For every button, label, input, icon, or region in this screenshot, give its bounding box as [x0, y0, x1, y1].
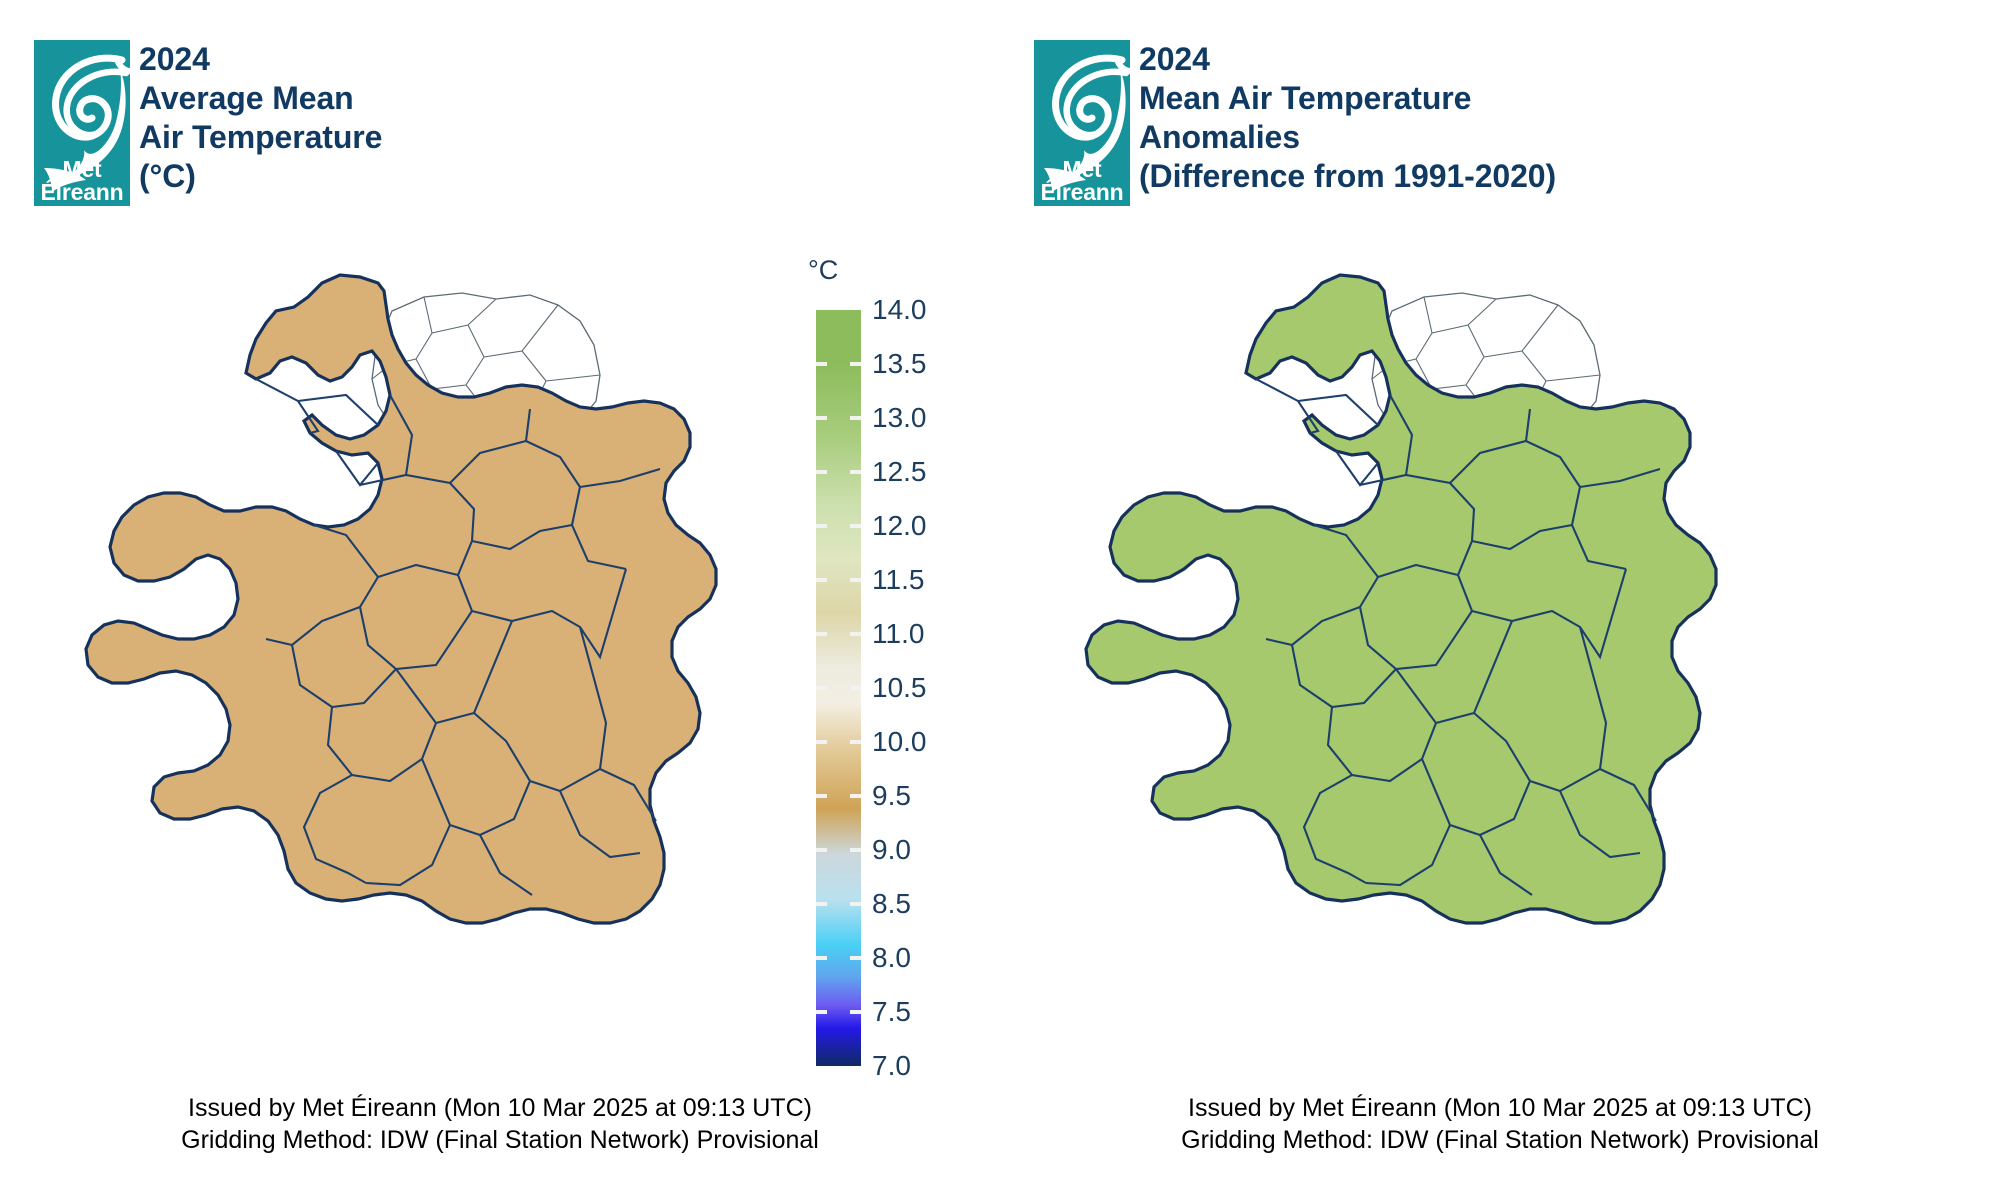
issued-by-text: Issued by Met Éireann (Mon 10 Mar 2025 a…: [0, 1092, 1000, 1124]
panel-mean-air-temperature-anomalies: Met Éireann 2024 Mean Air Temperature An…: [1000, 0, 2000, 1200]
header-right: Met Éireann 2024 Mean Air Temperature An…: [1034, 40, 1556, 206]
footer-left: Issued by Met Éireann (Mon 10 Mar 2025 a…: [0, 1092, 1000, 1156]
logo-word-eireann: Éireann: [1041, 179, 1124, 205]
logo-wordmark: Met Éireann: [34, 158, 130, 204]
gridding-method-text: Gridding Method: IDW (Final Station Netw…: [0, 1124, 1000, 1156]
title-line-3: Anomalies: [1139, 118, 1556, 157]
colorbar-tick-label: 10.5: [872, 674, 927, 702]
upland-cold-core: [184, 849, 236, 881]
footer-right: Issued by Met Éireann (Mon 10 Mar 2025 a…: [1000, 1092, 2000, 1156]
republic-of-ireland-landmass: [86, 260, 716, 923]
colorbar-tick-labels: 14.013.513.012.512.011.511.010.510.09.59…: [872, 310, 1012, 1066]
upland-cold-core: [233, 822, 259, 840]
colorbar-tick-label: 7.5: [872, 998, 911, 1026]
colorbar-tick-label: 13.0: [872, 404, 927, 432]
map-average-mean-air-temperature: [60, 225, 760, 1055]
title-line-1: 2024: [1139, 40, 1556, 79]
colorbar-tick-label: 11.5: [872, 566, 924, 594]
colorbar-tick-label: 10.0: [872, 728, 927, 756]
title-line-2: Mean Air Temperature: [1139, 79, 1556, 118]
upland-cold-core: [245, 421, 267, 437]
panel-average-mean-air-temperature: Met Éireann 2024 Average Mean Air Temper…: [0, 0, 1000, 1200]
met-eireann-logo-left: Met Éireann: [34, 40, 130, 206]
colorbar-tick-label: 9.5: [872, 782, 911, 810]
colorbar-tick-label: 11.0: [872, 620, 924, 648]
gridding-method-text: Gridding Method: IDW (Final Station Netw…: [1000, 1124, 2000, 1156]
upland-cold-core: [232, 407, 288, 443]
logo-wordmark: Met Éireann: [1034, 158, 1130, 204]
title-line-2: Average Mean: [139, 79, 382, 118]
colorbar-tick-label: 7.0: [872, 1052, 911, 1080]
colorbar-tick-label: 12.0: [872, 512, 927, 540]
colorbar-tick-label: 12.5: [872, 458, 927, 486]
colorbar-unit-label: °C: [808, 255, 838, 286]
map-mean-air-temperature-anomalies: [1060, 225, 1760, 1055]
page-title-left: 2024 Average Mean Air Temperature (°C): [139, 40, 382, 196]
colorbar-tick-label: 9.0: [872, 836, 911, 864]
coastline: [86, 275, 716, 923]
ireland-map-svg-right: [1060, 225, 1760, 1055]
logo-word-eireann: Éireann: [41, 179, 124, 205]
colorbar-tick-label: 13.5: [872, 350, 927, 378]
colorbar-tick-label: 14.0: [872, 296, 927, 324]
header-left: Met Éireann 2024 Average Mean Air Temper…: [34, 40, 382, 206]
colorbar-tick-label: 8.5: [872, 890, 911, 918]
title-line-4: (°C): [139, 157, 382, 196]
page-title-right: 2024 Mean Air Temperature Anomalies (Dif…: [1139, 40, 1556, 196]
title-line-3: Air Temperature: [139, 118, 382, 157]
issued-by-text: Issued by Met Éireann (Mon 10 Mar 2025 a…: [1000, 1092, 2000, 1124]
met-eireann-logo-right: Met Éireann: [1034, 40, 1130, 206]
coastline: [1086, 275, 1716, 923]
title-line-1: 2024: [139, 40, 382, 79]
colorbar-gradient: [816, 310, 861, 1066]
colorbar-tick-label: 8.0: [872, 944, 911, 972]
ireland-map-svg-left: [60, 225, 760, 1055]
republic-of-ireland-landmass: [1070, 275, 1730, 923]
title-line-4: (Difference from 1991-2020): [1139, 157, 1556, 196]
